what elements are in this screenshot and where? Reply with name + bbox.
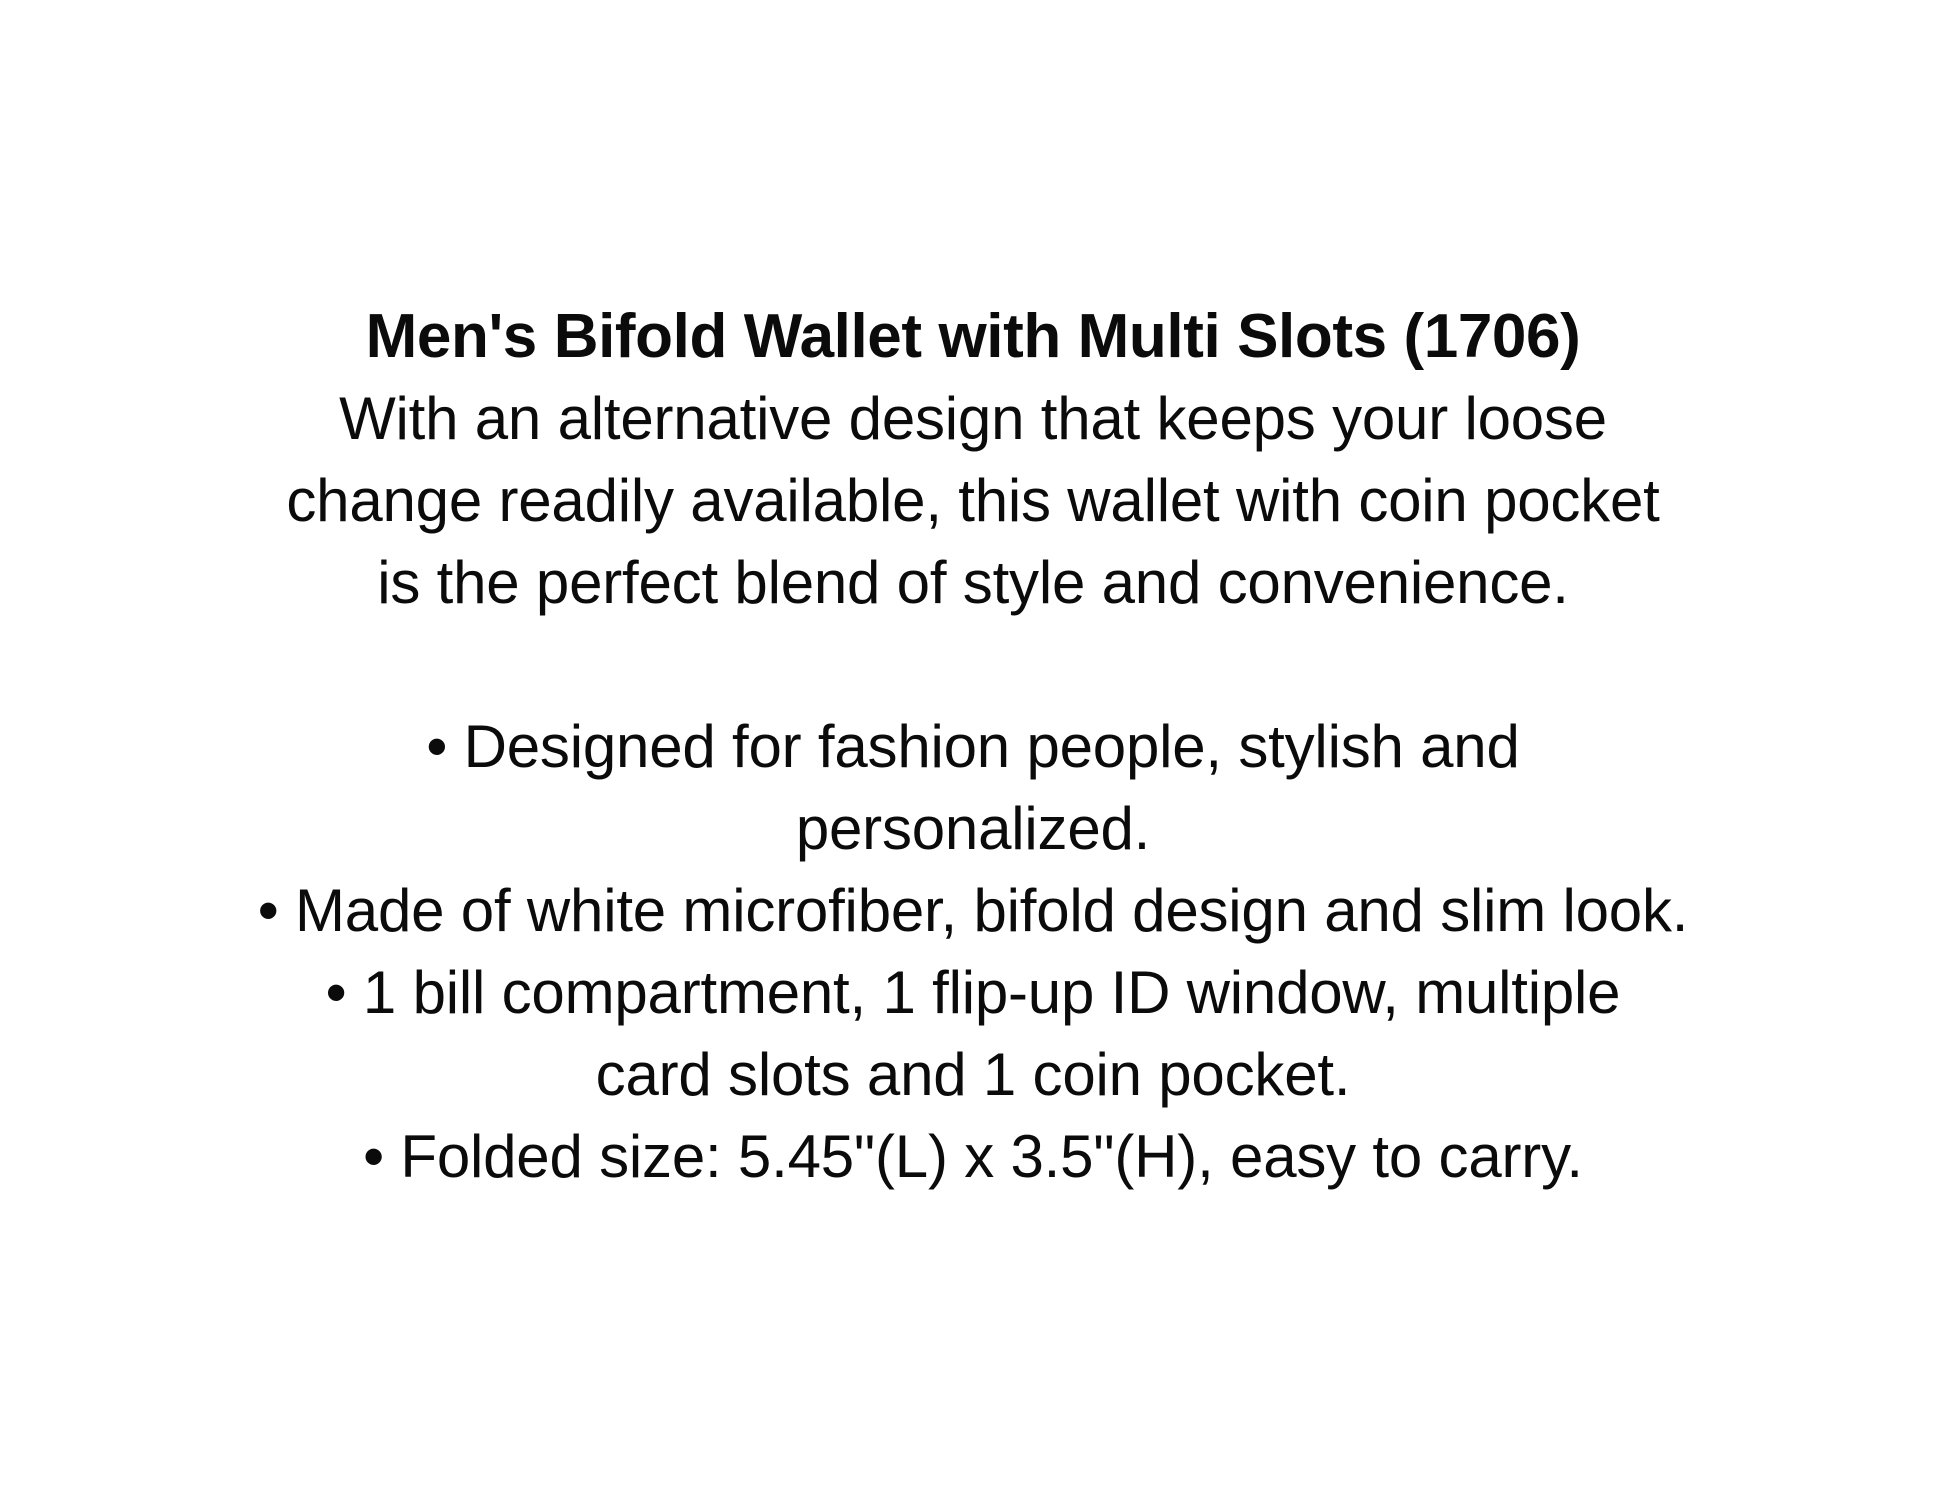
intro-paragraph: With an alternative design that keeps yo…: [188, 378, 1758, 624]
feature-1-line-2: personalized.: [188, 788, 1758, 870]
product-description-page: Men's Bifold Wallet with Multi Slots (17…: [0, 0, 1946, 1503]
description-block: Men's Bifold Wallet with Multi Slots (17…: [188, 296, 1758, 1198]
page-title: Men's Bifold Wallet with Multi Slots (17…: [188, 296, 1758, 378]
feature-2-line-1: • Made of white microfiber, bifold desig…: [188, 870, 1758, 952]
feature-3-line-1: • 1 bill compartment, 1 flip-up ID windo…: [188, 952, 1758, 1034]
list-item: • 1 bill compartment, 1 flip-up ID windo…: [188, 952, 1758, 1116]
intro-line-2: change readily available, this wallet wi…: [188, 460, 1758, 542]
paragraph-spacer: [188, 624, 1758, 706]
feature-3-line-2: card slots and 1 coin pocket.: [188, 1034, 1758, 1116]
feature-4-line-1: • Folded size: 5.45"(L) x 3.5"(H), easy …: [188, 1116, 1758, 1198]
intro-line-1: With an alternative design that keeps yo…: [188, 378, 1758, 460]
feature-list: • Designed for fashion people, stylish a…: [188, 706, 1758, 1198]
feature-1-line-1: • Designed for fashion people, stylish a…: [188, 706, 1758, 788]
intro-line-3: is the perfect blend of style and conven…: [188, 542, 1758, 624]
list-item: • Designed for fashion people, stylish a…: [188, 706, 1758, 870]
list-item: • Made of white microfiber, bifold desig…: [188, 870, 1758, 952]
list-item: • Folded size: 5.45"(L) x 3.5"(H), easy …: [188, 1116, 1758, 1198]
